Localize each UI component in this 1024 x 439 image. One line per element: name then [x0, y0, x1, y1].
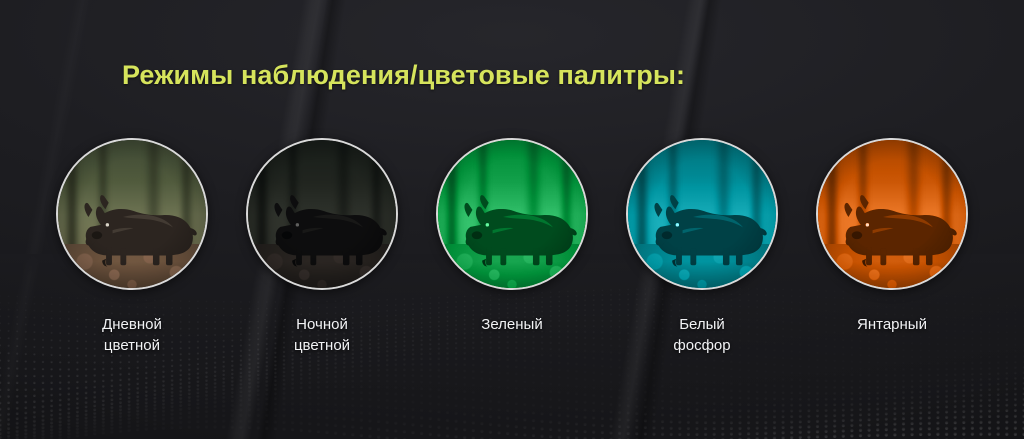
scene-haze [818, 140, 966, 288]
palette-item-1[interactable]: Дневной цветной [56, 138, 208, 356]
palette-thumbnail-3[interactable] [436, 138, 588, 290]
palette-label-5: Янтарный [857, 314, 927, 335]
boar-scene [628, 140, 776, 288]
palette-label-3: Зеленый [481, 314, 542, 335]
boar-scene [818, 140, 966, 288]
palette-item-3[interactable]: Зеленый [436, 138, 588, 356]
palette-thumbnail-2[interactable] [246, 138, 398, 290]
palette-thumbnail-1[interactable] [56, 138, 208, 290]
palette-thumbnail-5[interactable] [816, 138, 968, 290]
palette-label-1: Дневной цветной [102, 314, 162, 356]
scene-haze [438, 140, 586, 288]
page-title: Режимы наблюдения/цветовые палитры: [122, 60, 685, 91]
palette-label-2: Ночной цветной [294, 314, 350, 356]
palette-thumbnail-4[interactable] [626, 138, 778, 290]
palette-label-4: Белый фосфор [673, 314, 730, 356]
palette-row: Дневной цветной [0, 138, 1024, 356]
scene-haze [628, 140, 776, 288]
boar-scene [58, 140, 206, 288]
palette-item-2[interactable]: Ночной цветной [246, 138, 398, 356]
palette-showcase-slide: Режимы наблюдения/цветовые палитры: [0, 0, 1024, 439]
boar-scene [438, 140, 586, 288]
scene-haze [58, 140, 206, 288]
boar-scene [248, 140, 396, 288]
palette-item-4[interactable]: Белый фосфор [626, 138, 778, 356]
palette-item-5[interactable]: Янтарный [816, 138, 968, 356]
scene-haze [248, 140, 396, 288]
